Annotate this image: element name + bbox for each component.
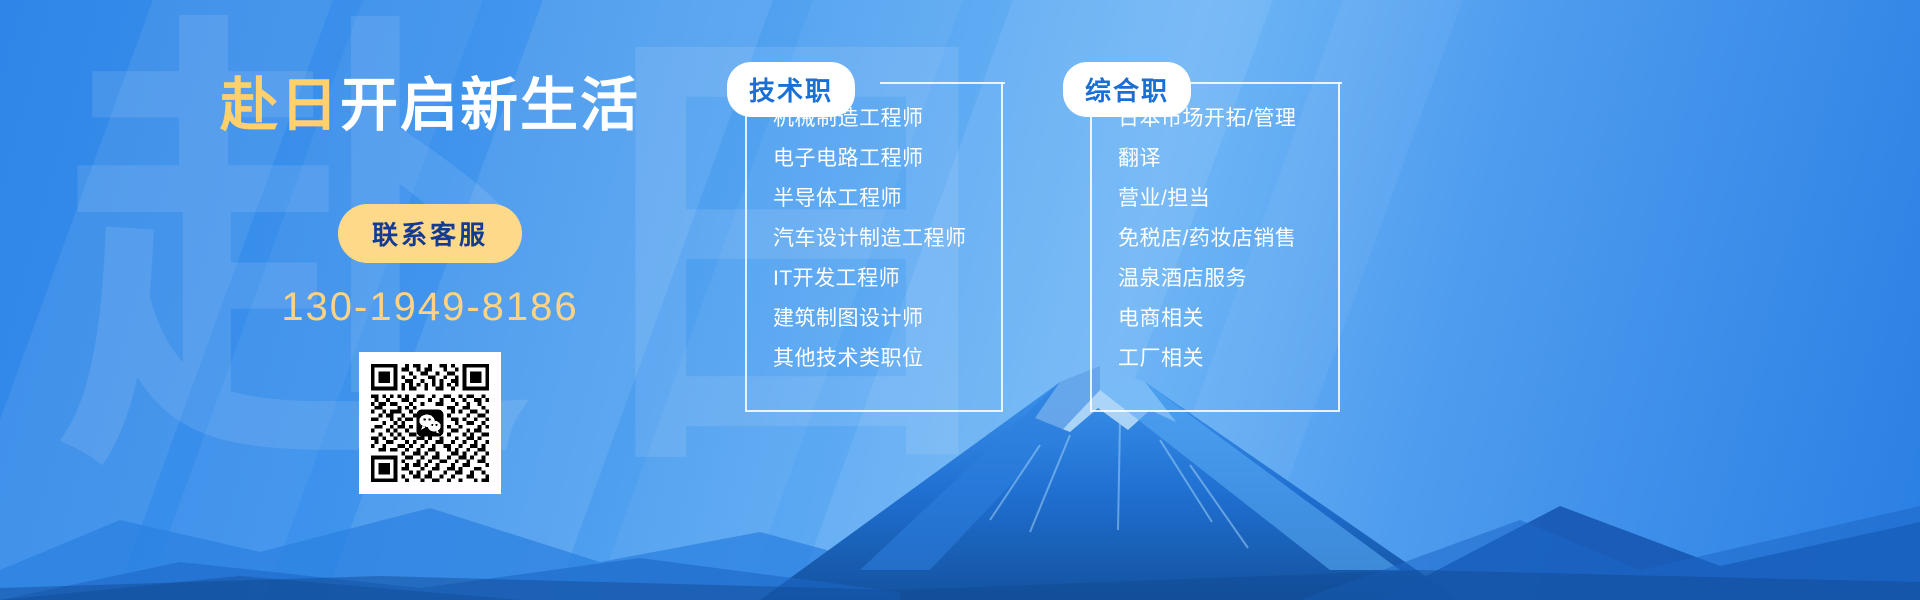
page-title: 赴日开启新生活 <box>220 58 640 142</box>
contact-support-button[interactable]: 联系客服 <box>338 204 522 263</box>
list-item[interactable]: 半导体工程师 <box>773 188 1001 209</box>
list-item[interactable]: 电子电路工程师 <box>773 148 1001 169</box>
left-info-panel: 赴日开启新生活 联系客服 130-1949-8186 <box>170 30 690 560</box>
list-item[interactable]: IT开发工程师 <box>773 268 1001 289</box>
general-jobs-column: 日本市场开拓/管理 翻译 营业/担当 免税店/药妆店销售 温泉酒店服务 电商相关… <box>1090 82 1340 412</box>
general-column-top-border <box>1185 82 1342 84</box>
technical-jobs-column: 机械制造工程师 电子电路工程师 半导体工程师 汽车设计制造工程师 IT开发工程师… <box>745 82 1003 412</box>
list-item[interactable]: 电商相关 <box>1118 308 1338 329</box>
list-item[interactable]: 温泉酒店服务 <box>1118 268 1338 289</box>
list-item[interactable]: 其他技术类职位 <box>773 348 1001 369</box>
list-item[interactable]: 汽车设计制造工程师 <box>773 228 1001 249</box>
wechat-qr-code[interactable] <box>359 352 501 494</box>
banner-stage: 赴日 <box>0 0 1920 600</box>
list-item[interactable]: 建筑制图设计师 <box>773 308 1001 329</box>
headline-white: 开启新生活 <box>340 73 640 138</box>
badge-general-jobs: 综合职 <box>1063 62 1191 117</box>
tech-column-top-border <box>880 82 1005 84</box>
phone-number: 130-1949-8186 <box>281 285 578 330</box>
qr-code-icon <box>367 360 493 486</box>
list-item[interactable]: 翻译 <box>1118 148 1338 169</box>
badge-technical-jobs: 技术职 <box>727 62 855 117</box>
list-item[interactable]: 工厂相关 <box>1118 348 1338 369</box>
list-item[interactable]: 营业/担当 <box>1118 188 1338 209</box>
headline-gold: 赴日 <box>220 73 340 138</box>
list-item[interactable]: 免税店/药妆店销售 <box>1118 228 1338 249</box>
